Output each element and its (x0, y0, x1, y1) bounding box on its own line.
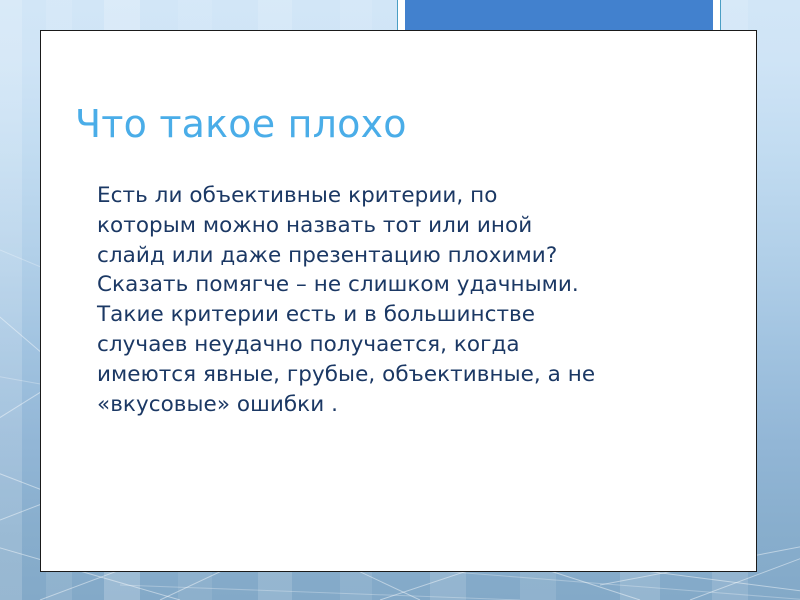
body-text-line: которым можно назвать тот или иной (97, 211, 697, 241)
page-title: Что такое плохо (75, 101, 407, 147)
body-text-block: Есть ли объективные критерии, по которым… (97, 181, 697, 419)
body-text-line: Такие критерии есть и в большинстве (97, 300, 697, 330)
body-text-line: слайд или даже презентацию плохими? (97, 241, 697, 271)
body-text-line: имеются явные, грубые, объективные, а не (97, 360, 697, 390)
body-text-line: «вкусовые» ошибки . (97, 390, 697, 420)
slide-canvas: Что такое плохо Есть ли объективные крит… (0, 0, 800, 600)
body-text-line: Сказать помягче – не слишком удачными. (97, 270, 697, 300)
body-text-line: Есть ли объективные критерии, по (97, 181, 697, 211)
body-text-line: случаев неудачно получается, когда (97, 330, 697, 360)
